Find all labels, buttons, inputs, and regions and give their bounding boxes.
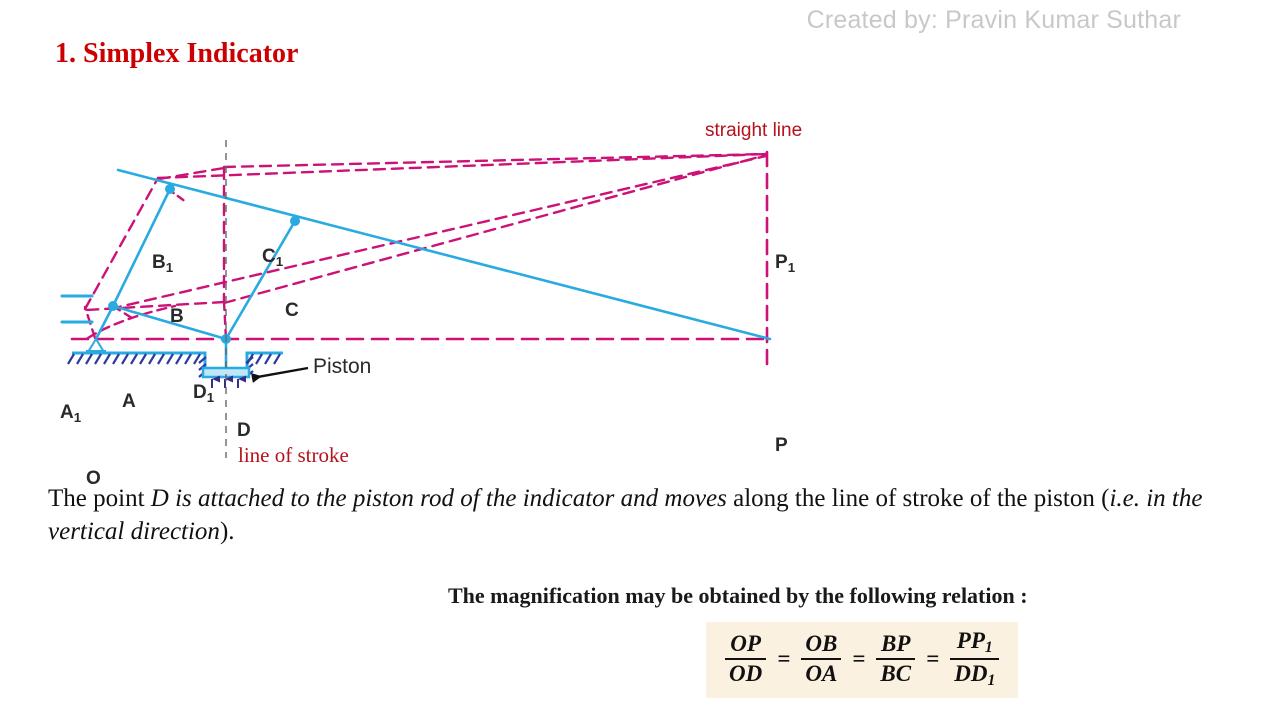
body-paragraph: The point D is attached to the piston ro…	[48, 482, 1258, 548]
label-d: D	[237, 420, 251, 442]
paragraph-italic-1: D is attached to the piston rod of the i…	[151, 485, 727, 512]
paragraph-part-1: The point	[48, 485, 151, 512]
magnification-formula: OP OD = OB OA = BP BC = PP1 DD1	[706, 622, 1018, 698]
label-p: P	[775, 435, 788, 457]
fraction-1-numerator: OP	[726, 631, 765, 658]
link-o-a	[96, 306, 113, 339]
locus-d1-down	[224, 302, 226, 339]
fraction-1-denominator: OD	[725, 658, 766, 687]
label-straight-line: straight line	[705, 120, 802, 142]
ground-hatch-left	[68, 354, 206, 377]
joint-a	[108, 301, 118, 311]
created-by-watermark: Created by: Pravin Kumar Suthar	[807, 6, 1181, 35]
mechanism-links	[96, 170, 770, 372]
ground-support	[68, 339, 283, 388]
fraction-pp1-dd1: PP1 DD1	[950, 628, 999, 690]
link-o-b-extended	[118, 170, 770, 339]
label-b1: B1	[152, 252, 173, 275]
page-title: 1. Simplex Indicator	[55, 38, 298, 70]
piston-arrow	[252, 368, 308, 378]
locus-d1-a1	[86, 302, 224, 310]
locus-d1-right	[224, 155, 766, 303]
label-line-of-stroke: line of stroke	[238, 443, 349, 468]
label-a1: A1	[60, 402, 81, 425]
relation-intro-text: The magnification may be obtained by the…	[448, 583, 1028, 609]
equals-2: =	[852, 646, 865, 672]
paragraph-part-3: ).	[220, 518, 235, 545]
fraction-op-od: OP OD	[725, 631, 766, 687]
locus-b1-c1	[159, 168, 224, 179]
label-c1: C1	[262, 246, 283, 269]
fraction-bp-bc: BP BC	[876, 631, 915, 687]
fraction-2-denominator: OA	[801, 658, 841, 687]
equals-3: =	[926, 646, 939, 672]
joint-b	[165, 184, 175, 194]
paragraph-part-2: along the line of stroke of the piston (	[727, 485, 1110, 512]
fraction-ob-oa: OB OA	[801, 631, 841, 687]
label-piston: Piston	[313, 355, 371, 379]
label-p1: P1	[775, 252, 795, 275]
fraction-2-numerator: OB	[801, 631, 841, 658]
locus-d1-p1	[110, 156, 766, 309]
equals-1: =	[777, 646, 790, 672]
piston-pressure-arrows	[212, 379, 238, 388]
fraction-3-numerator: BP	[877, 631, 914, 658]
fraction-4-numerator: PP1	[953, 628, 997, 658]
fraction-3-denominator: BC	[876, 658, 915, 687]
joint-c	[290, 216, 300, 226]
slide-canvas: Created by: Pravin Kumar Suthar 1. Simpl…	[0, 0, 1281, 720]
label-a: A	[122, 391, 136, 413]
locus-c1-p1	[224, 154, 766, 167]
diagram-svg	[0, 110, 900, 480]
label-d1: D1	[193, 382, 214, 405]
label-b: B	[170, 306, 184, 328]
label-c: C	[285, 300, 299, 322]
simplex-indicator-diagram: B1 B C1 C A A1 D1 D O P1 P	[0, 110, 900, 480]
fraction-4-denominator: DD1	[950, 658, 999, 690]
